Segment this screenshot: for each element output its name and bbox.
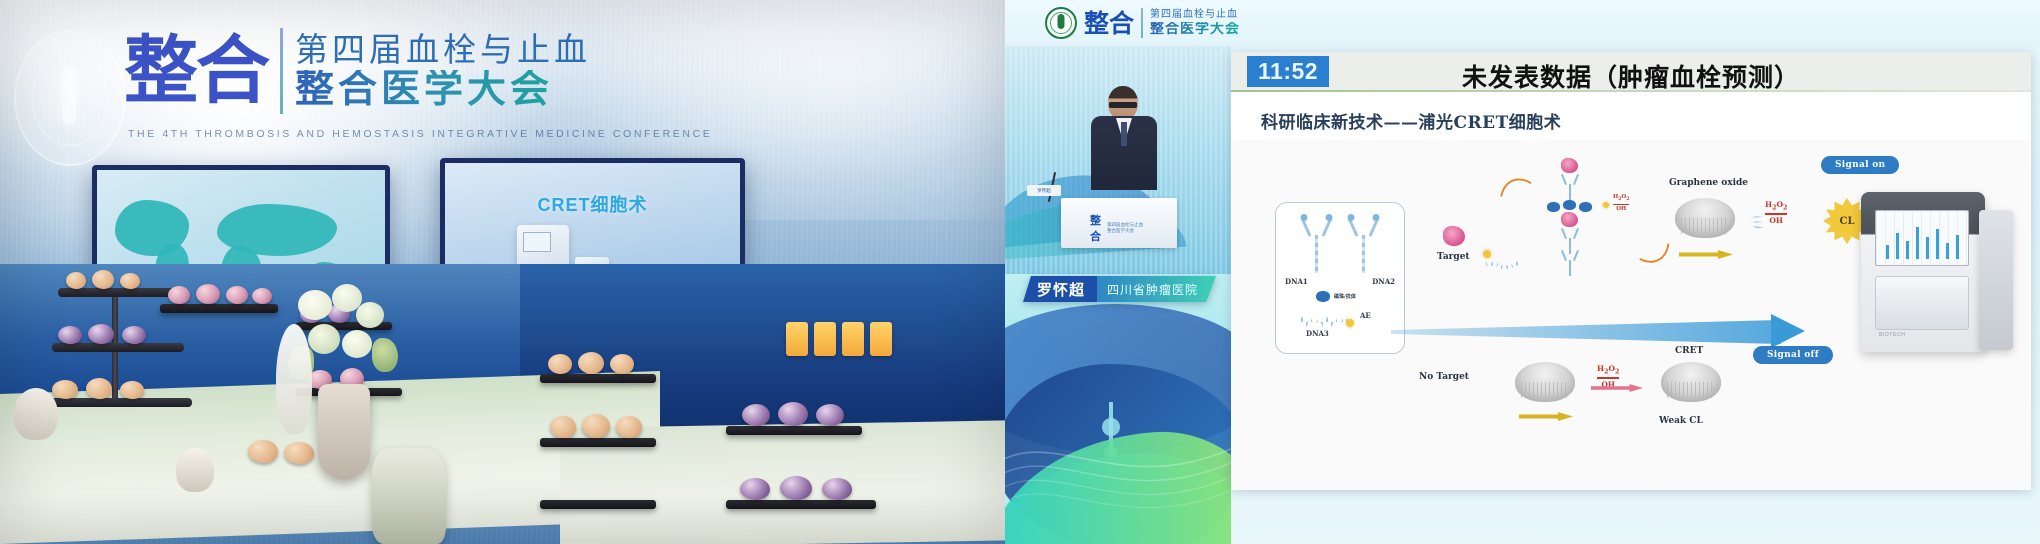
- pastry: [610, 354, 634, 374]
- flower: [356, 302, 384, 328]
- juice-glass: [842, 322, 864, 356]
- pastry: [86, 378, 112, 399]
- dna2-probe-icon: [1347, 217, 1381, 275]
- logo-main-character: 整合: [124, 34, 268, 108]
- speaker-video[interactable]: 罗怀超 整合 第四届血栓与止血 整合医学大会: [1005, 46, 1231, 274]
- pastry: [778, 402, 808, 426]
- pastry: [284, 442, 314, 464]
- figure-label-cl: CL: [1840, 216, 1855, 227]
- podium-nameplate: 罗怀超: [1027, 185, 1061, 196]
- speaker-glasses: [1109, 102, 1137, 108]
- magnetic-bead-icon: [1316, 291, 1330, 302]
- presentation-slide[interactable]: 11:52 未发表数据（肿瘤血栓预测） 科研临床新技术——浦光CRET细胞术: [1231, 52, 2031, 490]
- logo-line-1: 第四届血栓与止血: [295, 33, 591, 66]
- analyzer-side-module: [1979, 210, 2013, 350]
- podium-logo: 整合 第四届血栓与止血 整合医学大会: [1090, 212, 1148, 244]
- pastry: [120, 273, 140, 289]
- ae-tag-icon: [1483, 250, 1491, 258]
- dna3-strand-free-icon: [1483, 260, 1521, 271]
- dna3-strand-icon: [1298, 315, 1350, 329]
- pastry: [168, 286, 190, 304]
- header-logo-line-2: 整合医学大会: [1150, 22, 1240, 36]
- slide-content-area: DNA1 DNA2 磁珠/抗体 AE DNA3 Target: [1231, 140, 2031, 490]
- speaker-organization: 四川省肿瘤医院: [1097, 276, 1216, 302]
- pastry: [616, 416, 642, 438]
- bead-icon: [1563, 200, 1576, 210]
- target-bound-icon: [1561, 158, 1578, 173]
- chemiluminescence-analyzer: BIOTECH: [1861, 182, 2013, 352]
- pastry: [122, 326, 146, 344]
- pastry: [88, 324, 114, 344]
- pastry: [550, 416, 576, 438]
- graphene-oxide-cret-icon: [1661, 362, 1721, 402]
- pastry: [66, 272, 86, 289]
- pastry: [742, 404, 770, 426]
- dessert-plate: [540, 438, 656, 447]
- bead-icon: [1579, 202, 1592, 212]
- pastry: [248, 440, 278, 463]
- header-logo-line-1: 第四届血栓与止血: [1150, 10, 1240, 20]
- analyzer-screen-grid: [1876, 211, 1968, 265]
- flower: [308, 324, 340, 354]
- slide-subtitle: 科研临床新技术——浦光CRET细胞术: [1261, 108, 1561, 133]
- pastry: [816, 404, 844, 426]
- legend-label-ae: AE: [1360, 311, 1371, 320]
- product-screen-title: CRET细胞术: [445, 191, 740, 217]
- reagent-label-hox-lower: H2O2OH: [1597, 364, 1619, 389]
- cake-stand-mid: [52, 343, 184, 352]
- ae-label-dot-icon: [1346, 319, 1354, 327]
- legend-label-dna1: DNA1: [1285, 277, 1308, 286]
- legend-swatch-label: 磁珠/抗体: [1334, 293, 1356, 300]
- reagent-label-hox-top: H2O2OH: [1613, 194, 1629, 213]
- figure-label-weak-cl: Weak CL: [1659, 416, 1703, 426]
- leaf: [372, 338, 398, 372]
- speaker-figure: [1091, 86, 1157, 190]
- pastry: [822, 478, 852, 500]
- speaker-name: 罗怀超: [1023, 276, 1097, 302]
- figure-label-target: Target: [1437, 252, 1470, 262]
- city-graphic-panel: [1005, 274, 1231, 544]
- reagent-label-hox-upper: H2O2OH: [1765, 200, 1787, 225]
- analyzer-screen: [1875, 210, 1969, 266]
- pastry: [52, 380, 78, 399]
- conference-english-subtitle: THE 4TH THROMBOSIS AND HEMOSTASIS INTEGR…: [128, 128, 712, 140]
- dna-probe-pair: [1300, 217, 1381, 275]
- broadcast-logo: 整合 第四届血栓与止血 整合医学大会: [1045, 7, 1240, 39]
- rabbit-figurine: [14, 388, 58, 440]
- horse-figurine: [372, 448, 446, 544]
- ae-tag-icon: [1603, 202, 1609, 208]
- graphene-oxide-icon: [1675, 198, 1735, 238]
- legend-label-dna3: DNA3: [1306, 329, 1329, 338]
- logo-line-2: 整合医学大会: [295, 70, 591, 109]
- broadcast-header: 整合 第四届血栓与止血 整合医学大会: [1005, 0, 2040, 46]
- pastry: [780, 476, 812, 500]
- figure-label-no-target: No Target: [1419, 372, 1469, 382]
- conference-venue-photo: 中华医学会整合医学 整合 第四届血栓与止血 整合医学大会 THE 4TH THR…: [0, 0, 1005, 544]
- cake-stand-pole-2: [112, 352, 118, 398]
- dna-strand-icon: [1744, 213, 1766, 229]
- cake-stand-base: [46, 398, 192, 407]
- pastry: [548, 354, 572, 374]
- podium-logo-subtext: 第四届血栓与止血 整合医学大会: [1107, 222, 1148, 233]
- cret-assay-schematic: DNA1 DNA2 磁珠/抗体 AE DNA3 Target: [1231, 140, 2031, 490]
- flower: [298, 290, 332, 320]
- analyzer-door: [1875, 276, 1969, 330]
- podium-nameplate-text: 罗怀超: [1037, 188, 1051, 194]
- analyzer-body: BIOTECH: [1861, 192, 1985, 352]
- signal-off-badge: Signal off: [1753, 346, 1833, 364]
- flower-vase: [318, 384, 370, 480]
- legend-box: DNA1 DNA2 磁珠/抗体 AE DNA3: [1275, 202, 1405, 354]
- speaker-name-badge: 罗怀超 四川省肿瘤医院: [1023, 276, 1216, 302]
- medical-association-seal-icon: [1045, 7, 1077, 39]
- figure-label-cret: CRET: [1675, 346, 1703, 356]
- legend-label-dna2: DNA2: [1372, 277, 1395, 286]
- header-logo-divider: [1141, 8, 1143, 38]
- pastry: [120, 381, 144, 399]
- pastry: [740, 478, 770, 500]
- pastry: [578, 352, 604, 374]
- dessert-plate: [540, 374, 656, 383]
- figure-label-graphene-oxide: Graphene oxide: [1669, 178, 1748, 188]
- conference-logo: 整合 第四届血栓与止血 整合医学大会: [124, 28, 591, 114]
- dna1-probe-icon: [1300, 217, 1334, 275]
- dessert-plate: [160, 304, 278, 313]
- podium-logo-character: 整合: [1090, 212, 1104, 244]
- analyzer-brand-mark: BIOTECH: [1879, 332, 1905, 338]
- dessert-plate: [540, 500, 656, 509]
- dessert-plate: [726, 426, 862, 435]
- podium: 整合 第四届血栓与止血 整合医学大会: [1061, 198, 1177, 248]
- speaker-tie: [1121, 122, 1127, 146]
- yellow-arrow-bottom: [1519, 412, 1573, 421]
- juice-glass: [870, 322, 892, 356]
- bead-icon: [1547, 202, 1560, 212]
- screenshot-root: 中华医学会整合医学 整合 第四届血栓与止血 整合医学大会 THE 4TH THR…: [0, 0, 2040, 544]
- seal-inner-ring: [1050, 12, 1072, 34]
- dessert-table-scene: [0, 264, 1005, 544]
- pastry: [92, 270, 114, 289]
- target-molecule-icon: [1443, 226, 1465, 246]
- target-bound-icon: [1561, 212, 1578, 227]
- flower: [342, 330, 372, 358]
- header-logo-character: 整合: [1084, 11, 1134, 36]
- pastry: [196, 284, 220, 304]
- cake-stand-top: [58, 288, 176, 297]
- yellow-arrow-top: [1679, 250, 1733, 259]
- wave-lines: [1005, 394, 1231, 544]
- swan-figurine: [276, 324, 312, 434]
- pastry: [252, 288, 272, 304]
- logo-divider: [280, 28, 283, 114]
- slide-title: 未发表数据（肿瘤血栓预测）: [1231, 58, 2031, 94]
- graphene-oxide-icon-bottom: [1515, 362, 1575, 402]
- broadcast-panel: 整合 第四届血栓与止血 整合医学大会 罗怀超: [1005, 0, 2040, 544]
- emblem-caption: 中华医学会整合医学: [36, 38, 104, 48]
- pastry: [582, 414, 610, 438]
- juice-glass: [814, 322, 836, 356]
- pastry: [58, 326, 82, 344]
- dessert-plate: [726, 500, 876, 509]
- association-emblem-icon: 中华医学会整合医学: [14, 30, 126, 166]
- pastry: [226, 286, 248, 304]
- rabbit-figurine: [176, 448, 214, 492]
- signal-on-badge: Signal on: [1821, 156, 1899, 174]
- juice-glass: [786, 322, 808, 356]
